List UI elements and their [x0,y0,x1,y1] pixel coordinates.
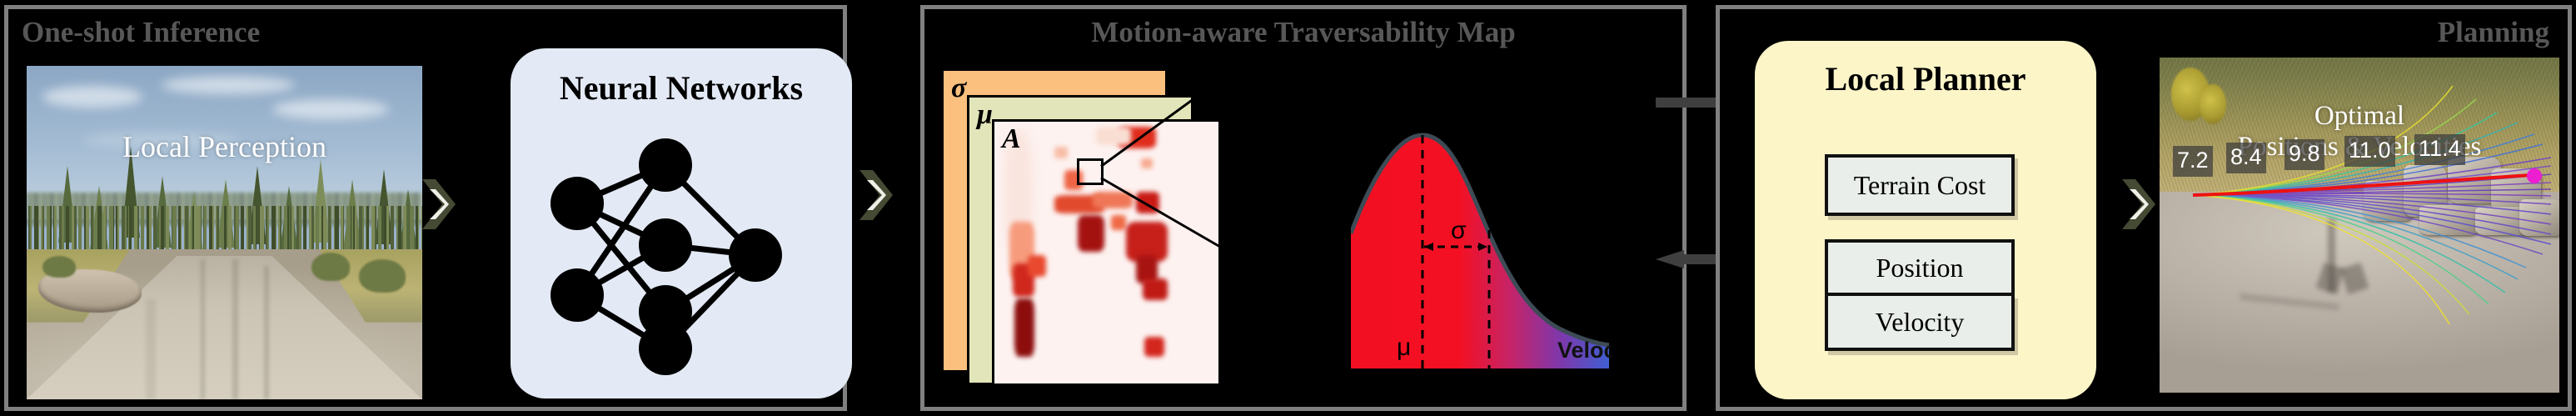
planning-result-image: Optimal Positions & Velocities 7.2 8.4 9… [2160,58,2559,393]
mu-layer-glyph: μ [977,99,993,131]
nn-node [639,218,692,272]
panel-planning: Planning Local Planner Terrain Cost Posi… [1716,5,2572,411]
nn-node [639,322,692,375]
heatmap-callout-box [1077,158,1104,185]
nn-node [551,177,604,230]
local-planner-card: Local Planner Terrain Cost Position Velo… [1755,41,2096,399]
nn-node [729,228,782,282]
local-perception-image: Local Perception [27,66,422,399]
heat-blob [1096,127,1131,145]
distribution-sigma-label: σ [1451,217,1467,245]
heat-blob [1028,255,1046,277]
cloud [272,99,389,119]
panel-title-inference: One-shot Inference [22,16,260,49]
heat-blob [1141,158,1153,168]
road-rut [146,299,156,399]
goal-marker [2527,168,2542,183]
local-perception-label: Local Perception [27,129,422,164]
nn-node [639,138,692,192]
bush [359,259,406,293]
velocity-distribution-plot: μ σ Veloc [1351,67,1684,386]
terrain-cost-box[interactable]: Terrain Cost [1825,154,2015,216]
heat-blob [1078,215,1104,252]
neural-network-title: Neural Networks [511,68,852,108]
bush [311,253,350,281]
cloud [42,86,142,108]
bush [42,256,76,278]
panel-one-shot-inference: One-shot Inference [4,5,847,411]
cloud [162,76,295,94]
heat-blob [1014,298,1034,357]
overlay-line-1: Optimal [2314,101,2404,131]
heat-blob [1054,147,1068,158]
neural-network-graph [542,138,822,380]
arrow-perception-to-network [421,176,457,233]
amplitude-heatmap-layer: A [992,119,1221,386]
arrow-planner-to-result [2120,176,2157,233]
road-rut [201,259,205,399]
arrow-network-to-map [858,167,894,223]
heat-blob [1111,215,1126,230]
velocity-label: 11.0 [2344,136,2395,167]
road-rut [264,266,269,399]
nn-node [551,268,604,322]
panel-title-map: Motion-aware Traversability Map [924,16,1682,49]
velocity-label: 9.8 [2285,139,2324,170]
heat-blob [1143,278,1168,300]
pipeline-figure: One-shot Inference [0,0,2576,416]
heat-blob [1144,337,1164,357]
distribution-mu-label: μ [1397,333,1411,362]
distribution-axis-label: Veloc [1557,338,1611,363]
neural-network-card: Neural Networks [511,48,852,398]
panel-title-planning: Planning [2438,16,2549,49]
amplitude-layer-glyph: A [1002,123,1021,155]
velocity-label: 11.4 [2414,134,2465,165]
position-box[interactable]: Position [1825,239,2015,294]
road-rut [232,259,238,399]
velocity-box[interactable]: Velocity [1825,294,2015,351]
velocity-label: 7.2 [2173,146,2213,177]
sigma-layer-glyph: σ [951,73,966,104]
local-planner-title: Local Planner [1755,59,2096,98]
velocity-label: 8.4 [2226,143,2266,173]
